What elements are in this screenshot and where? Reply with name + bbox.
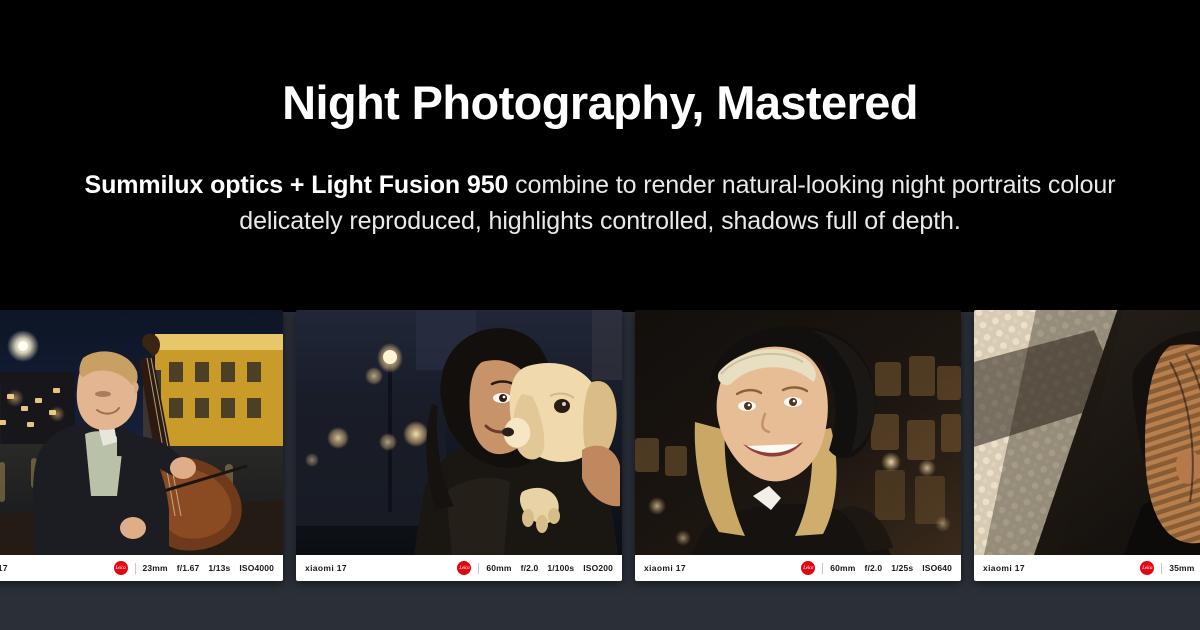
caption-exif-group: Leica 60mm f/2.0 1/25s ISO640	[801, 561, 952, 575]
hero-subtitle-line-1: Summilux optics + Light Fusion 950 combi…	[0, 168, 1200, 204]
spec-iso: ISO640	[922, 563, 952, 573]
caption-divider	[822, 563, 823, 574]
caption-exif-group: Leica 35mm f/1.8 1/60s ISO800	[1140, 561, 1200, 575]
photo-card[interactable]: xiaomi 17 Leica 60mm f/2.0 1/100s ISO200	[296, 310, 622, 581]
caption-specs: 35mm f/1.8 1/60s ISO800	[1169, 563, 1200, 573]
hero-section: Night Photography, Mastered Summilux opt…	[0, 0, 1200, 300]
caption-brand: xiaomi 17	[0, 563, 8, 573]
hero-subtitle-line-2: delicately reproduced, highlights contro…	[0, 204, 1200, 240]
spec-shutter: 1/100s	[547, 563, 574, 573]
caption-specs: 60mm f/2.0 1/25s ISO640	[830, 563, 952, 573]
spec-aperture: f/2.0	[864, 563, 882, 573]
spec-iso: ISO4000	[239, 563, 274, 573]
promo-page: Night Photography, Mastered Summilux opt…	[0, 0, 1200, 630]
spec-focal-length: 23mm	[143, 563, 168, 573]
spec-iso: ISO200	[583, 563, 613, 573]
photo-card[interactable]: xiaomi 17 Leica 60mm f/2.0 1/25s ISO640	[635, 310, 961, 581]
spec-aperture: f/1.67	[177, 563, 200, 573]
photo-caption: xiaomi 17 Leica 23mm f/1.67 1/13s ISO400…	[0, 555, 283, 581]
caption-brand: xiaomi 17	[305, 563, 347, 573]
hero-subtitle-rest: combine to render natural-looking night …	[508, 171, 1115, 199]
spec-focal-length: 35mm	[1169, 563, 1194, 573]
photo-graduate	[635, 310, 961, 555]
caption-divider	[478, 563, 479, 574]
spec-focal-length: 60mm	[486, 563, 511, 573]
caption-brand: xiaomi 17	[644, 563, 686, 573]
photo-caption: xiaomi 17 Leica 35mm f/1.8 1/60s ISO800	[974, 555, 1200, 581]
photo-card[interactable]: xiaomi 17 Leica 23mm f/1.67 1/13s ISO400…	[0, 310, 283, 581]
photo-cellist	[0, 310, 283, 555]
caption-divider	[135, 563, 136, 574]
spec-shutter: 1/25s	[891, 563, 913, 573]
page-title: Night Photography, Mastered	[0, 78, 1200, 128]
caption-brand: xiaomi 17	[983, 563, 1025, 573]
caption-exif-group: Leica 60mm f/2.0 1/100s ISO200	[457, 561, 613, 575]
leica-logo-icon: Leica	[457, 561, 471, 575]
hero-subtitle: Summilux optics + Light Fusion 950 combi…	[0, 168, 1200, 239]
photo-caption: xiaomi 17 Leica 60mm f/2.0 1/25s ISO640	[635, 555, 961, 581]
photo-card[interactable]: xiaomi 17 Leica 35mm f/1.8 1/60s ISO800	[974, 310, 1200, 581]
spec-aperture: f/2.0	[521, 563, 539, 573]
caption-specs: 60mm f/2.0 1/100s ISO200	[486, 563, 613, 573]
hero-subtitle-highlight: Summilux optics + Light Fusion 950	[85, 171, 509, 199]
gallery-section: xiaomi 17 Leica 23mm f/1.67 1/13s ISO400…	[0, 300, 1200, 630]
leica-logo-icon: Leica	[801, 561, 815, 575]
photo-card-list: xiaomi 17 Leica 23mm f/1.67 1/13s ISO400…	[0, 310, 1200, 581]
caption-divider	[1161, 563, 1162, 574]
caption-specs: 23mm f/1.67 1/13s ISO4000	[143, 563, 274, 573]
leica-logo-icon: Leica	[1140, 561, 1154, 575]
spec-focal-length: 60mm	[830, 563, 855, 573]
photo-dappled-light	[974, 310, 1200, 555]
spec-shutter: 1/13s	[208, 563, 230, 573]
caption-exif-group: Leica 23mm f/1.67 1/13s ISO4000	[114, 561, 274, 575]
photo-caption: xiaomi 17 Leica 60mm f/2.0 1/100s ISO200	[296, 555, 622, 581]
leica-logo-icon: Leica	[114, 561, 128, 575]
photo-woman-dog	[296, 310, 622, 555]
